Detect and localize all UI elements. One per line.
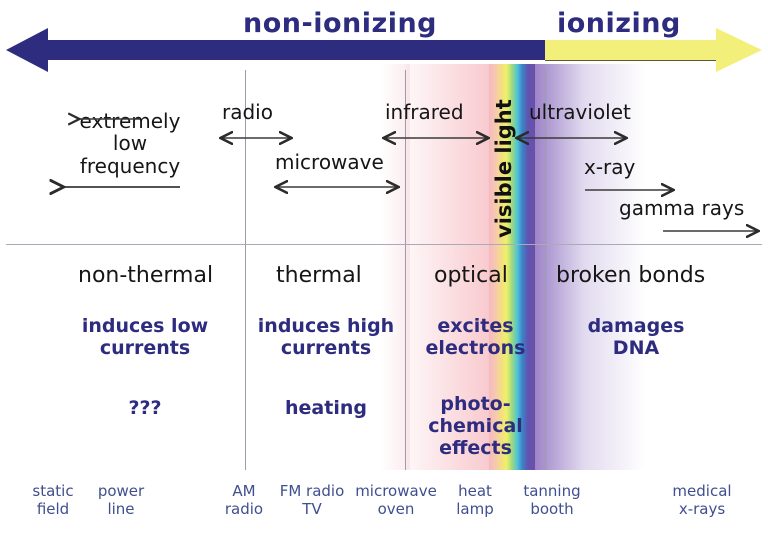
effect-optical-line2: electrons bbox=[406, 338, 545, 359]
example-microwave-oven: microwave oven bbox=[352, 482, 440, 519]
example-line1: heat bbox=[444, 482, 506, 500]
example-line1: power bbox=[86, 482, 156, 500]
effect-optical-extra1: photo- bbox=[406, 394, 545, 415]
effect-heading-thermal: thermal bbox=[276, 263, 362, 288]
example-tanning-booth: tanning booth bbox=[512, 482, 592, 519]
example-line2: booth bbox=[512, 500, 592, 518]
example-line2: radio bbox=[213, 500, 275, 518]
effect-thermal-extra: heating bbox=[246, 398, 406, 419]
example-line1: medical bbox=[664, 482, 740, 500]
example-am-radio: AM radio bbox=[213, 482, 275, 519]
effect-optical-line1: excites bbox=[406, 316, 545, 337]
example-heat-lamp: heat lamp bbox=[444, 482, 506, 519]
example-line2: x-rays bbox=[664, 500, 740, 518]
example-fm-radio-tv: FM radio TV bbox=[270, 482, 354, 519]
example-static-field: static field bbox=[18, 482, 88, 519]
example-line1: tanning bbox=[512, 482, 592, 500]
example-line2: TV bbox=[270, 500, 354, 518]
example-line2: line bbox=[86, 500, 156, 518]
example-line1: AM bbox=[213, 482, 275, 500]
example-line2: oven bbox=[352, 500, 440, 518]
example-line1: FM radio bbox=[270, 482, 354, 500]
example-line1: static bbox=[18, 482, 88, 500]
example-medical-x-rays: medical x-rays bbox=[664, 482, 740, 519]
effect-non-thermal-line1: induces low bbox=[60, 316, 230, 337]
example-line1: microwave bbox=[352, 482, 440, 500]
effect-broken-bonds-line1: damages bbox=[546, 316, 726, 337]
effect-thermal-line2: currents bbox=[246, 338, 406, 359]
effect-optical-extra2: chemical bbox=[406, 416, 545, 437]
effect-heading-optical: optical bbox=[434, 263, 508, 288]
example-line2: lamp bbox=[444, 500, 506, 518]
effect-thermal-line1: induces high bbox=[246, 316, 406, 337]
effect-optical-extra3: effects bbox=[406, 438, 545, 459]
effect-heading-broken-bonds: broken bonds bbox=[556, 263, 705, 288]
spectrum-diagram: non-ionizing ionizing extremely low freq… bbox=[0, 0, 768, 535]
effect-heading-non-thermal: non-thermal bbox=[78, 263, 213, 288]
example-line2: field bbox=[18, 500, 88, 518]
effect-non-thermal-extra: ??? bbox=[60, 398, 230, 419]
effect-non-thermal-line2: currents bbox=[60, 338, 230, 359]
effect-broken-bonds-line2: DNA bbox=[546, 338, 726, 359]
example-power-line: power line bbox=[86, 482, 156, 519]
